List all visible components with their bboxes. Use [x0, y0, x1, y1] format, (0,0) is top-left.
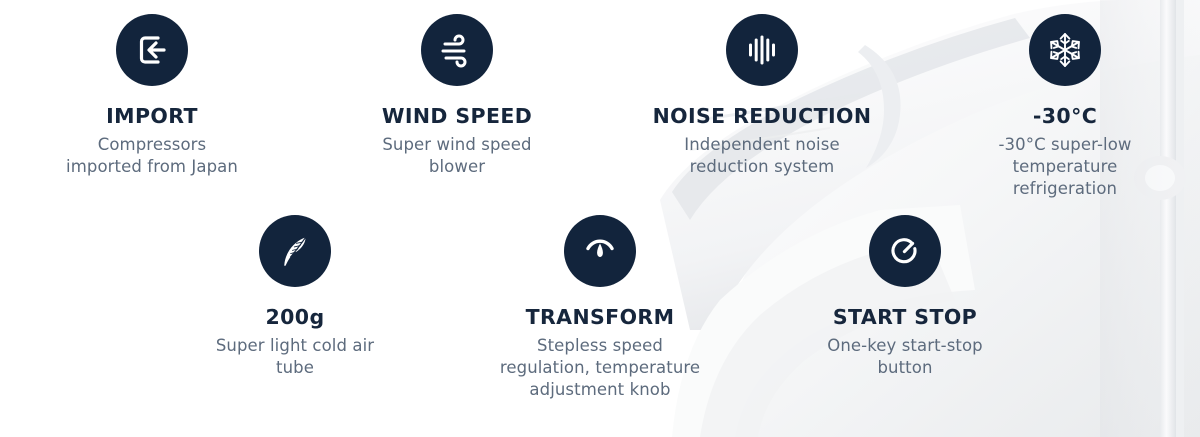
feature-description: Super wind speed blower — [327, 134, 587, 178]
feature-description-line: Super wind speed — [327, 134, 587, 156]
feature-description: -30°C super-low temperature refrigeratio… — [950, 134, 1180, 200]
feature-title: IMPORT — [22, 104, 282, 128]
feature-description: Compressors imported from Japan — [22, 134, 282, 178]
feature-description-line: Stepless speed — [460, 335, 740, 357]
feature-title: -30°C — [950, 104, 1180, 128]
feature-description: Independent noise reduction system — [632, 134, 892, 178]
feature-description-line: Independent noise — [632, 134, 892, 156]
feature-description-line: refrigeration — [950, 178, 1180, 200]
feature-title: TRANSFORM — [460, 305, 740, 329]
feature-description-line: adjustment knob — [460, 379, 740, 401]
feature-wind-speed: WIND SPEED Super wind speed blower — [327, 14, 587, 178]
feature-title: 200g — [165, 305, 425, 329]
feature-title: NOISE REDUCTION — [632, 104, 892, 128]
feature-description: Super light cold air tube — [165, 335, 425, 379]
feature-description-line: imported from Japan — [22, 156, 282, 178]
feature-description: Stepless speed regulation, temperature a… — [460, 335, 740, 401]
feature-description-line: One-key start-stop — [775, 335, 1035, 357]
feature-weight: 200g Super light cold air tube — [165, 215, 425, 379]
feature-description-line: button — [775, 357, 1035, 379]
wind-icon — [421, 14, 493, 86]
feature-description-line: Compressors — [22, 134, 282, 156]
feature-highlights-panel: IMPORT Compressors imported from Japan W… — [0, 0, 1200, 437]
knob-gauge-icon — [564, 215, 636, 287]
feature-description: One-key start-stop button — [775, 335, 1035, 379]
feature-description-line: temperature — [950, 156, 1180, 178]
feature-description-line: regulation, temperature — [460, 357, 740, 379]
feature-start-stop: START STOP One-key start-stop button — [775, 215, 1035, 379]
feature-noise-reduction: NOISE REDUCTION Independent noise reduct… — [632, 14, 892, 178]
feature-title: START STOP — [775, 305, 1035, 329]
feather-icon — [259, 215, 331, 287]
feature-description-line: Super light cold air — [165, 335, 425, 357]
feature-description-line: reduction system — [632, 156, 892, 178]
power-eco-icon — [869, 215, 941, 287]
feature-description-line: tube — [165, 357, 425, 379]
feature-transform: TRANSFORM Stepless speed regulation, tem… — [460, 215, 740, 401]
sound-wave-icon — [726, 14, 798, 86]
feature-import: IMPORT Compressors imported from Japan — [22, 14, 282, 178]
feature-temperature: -30°C -30°C super-low temperature refrig… — [950, 14, 1180, 200]
import-arrow-icon — [116, 14, 188, 86]
feature-description-line: -30°C super-low — [950, 134, 1180, 156]
feature-title: WIND SPEED — [327, 104, 587, 128]
snowflake-icon — [1029, 14, 1101, 86]
feature-description-line: blower — [327, 156, 587, 178]
